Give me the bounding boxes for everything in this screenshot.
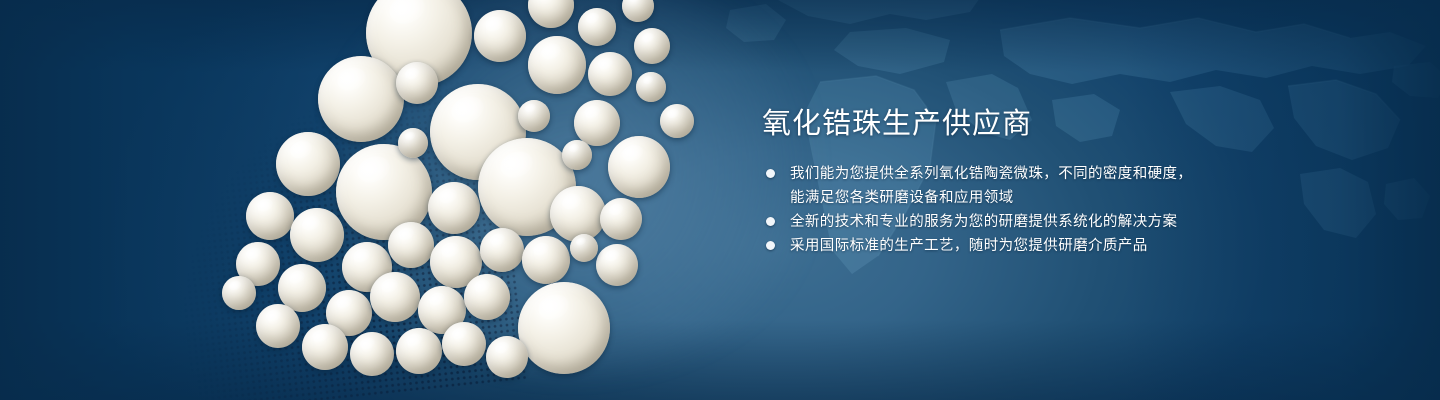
list-item: 采用国际标准的生产工艺，随时为您提供研磨介质产品 (762, 234, 1382, 258)
banner-copy: 氧化锆珠生产供应商 我们能为您提供全系列氧化锆陶瓷微珠，不同的密度和硬度， 能满… (762, 104, 1382, 258)
bullet-dot-icon (766, 217, 775, 226)
bullet-dot-icon (766, 241, 775, 250)
page-title: 氧化锆珠生产供应商 (762, 104, 1382, 144)
list-item-line: 我们能为您提供全系列氧化锆陶瓷微珠，不同的密度和硬度， (790, 162, 1382, 186)
bullet-dot-icon (766, 169, 775, 178)
feature-list: 我们能为您提供全系列氧化锆陶瓷微珠，不同的密度和硬度， 能满足您各类研磨设备和应… (762, 162, 1382, 258)
hero-banner: 氧化锆珠生产供应商 我们能为您提供全系列氧化锆陶瓷微珠，不同的密度和硬度， 能满… (0, 0, 1440, 400)
list-item-line: 能满足您各类研磨设备和应用领域 (790, 186, 1382, 210)
list-item: 全新的技术和专业的服务为您的研磨提供系统化的解决方案 (762, 210, 1382, 234)
zirconia-beads-photo (130, 0, 750, 400)
list-item-line: 采用国际标准的生产工艺，随时为您提供研磨介质产品 (790, 234, 1382, 258)
list-item: 我们能为您提供全系列氧化锆陶瓷微珠，不同的密度和硬度， 能满足您各类研磨设备和应… (762, 162, 1382, 210)
list-item-line: 全新的技术和专业的服务为您的研磨提供系统化的解决方案 (790, 210, 1382, 234)
